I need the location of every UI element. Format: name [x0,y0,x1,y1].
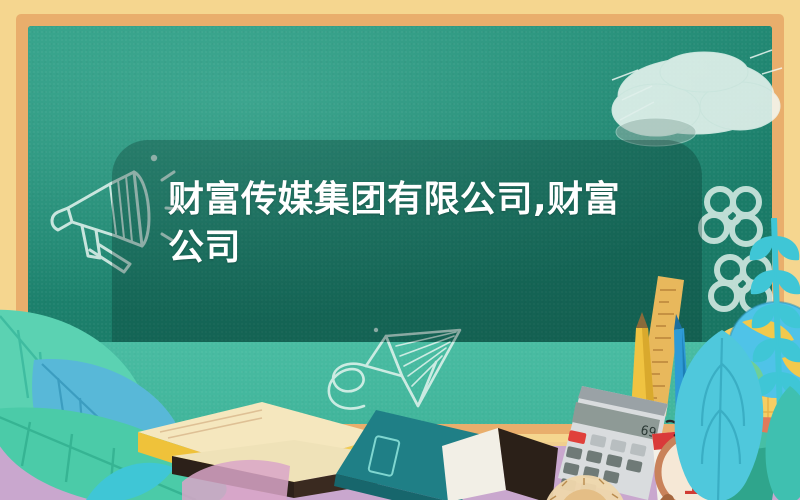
page-title-wrap: 财富传媒集团有限公司,财富公司 [168,176,638,272]
protractor [540,452,630,500]
banner-stage: 财富传媒集团有限公司,财富公司 [0,0,800,500]
leaf-far-right [760,386,800,500]
page-title: 财富传媒集团有限公司,财富公司 [168,176,638,272]
pink-shape-bottom [182,452,292,500]
